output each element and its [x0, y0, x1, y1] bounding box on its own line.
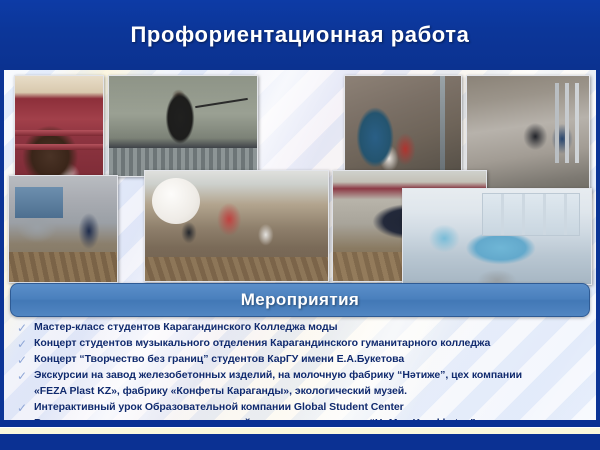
- list-item-label: Мастер-класс студентов Карагандинского К…: [34, 320, 596, 334]
- photo-image: [15, 76, 103, 179]
- slide-root: Профориентационная работа: [0, 0, 600, 450]
- photo-children-stage: [144, 170, 329, 282]
- photo-dombra-performer: [108, 75, 258, 177]
- list-item-label: Интерактивный урок Образовательной компа…: [34, 400, 596, 414]
- photo-students-classroom: [8, 175, 118, 283]
- left-border: [0, 70, 4, 420]
- photo-detail: [9, 252, 117, 282]
- photo-auditorium-girl-braid: [14, 75, 104, 180]
- photo-detail: [152, 178, 200, 224]
- right-border: [596, 70, 600, 420]
- photo-detail: [145, 257, 328, 281]
- list-item: ✓ Экскурсии на завод железобетонных изде…: [10, 368, 596, 384]
- checkmark-icon: ✓: [10, 336, 34, 351]
- list-item: ✓ Интерактивный урок Образовательной ком…: [10, 400, 596, 416]
- events-panel-header: Мероприятия: [10, 283, 590, 317]
- checkmark-icon: ✓: [10, 352, 34, 367]
- slide-title-band: Профориентационная работа: [0, 0, 600, 70]
- photo-detail: [482, 193, 580, 237]
- photo-detail: [15, 130, 103, 136]
- photo-dairy-plant-visit: [402, 188, 592, 285]
- events-bullet-list: ✓ Мастер-класс студентов Карагандинского…: [10, 320, 596, 420]
- page-title: Профориентационная работа: [131, 22, 470, 48]
- photo-image: [403, 189, 591, 284]
- list-item-label-line2: «FEZA Plast KZ», фабрику «Конфеты Карага…: [34, 384, 596, 398]
- list-item-label: Концерт “Творчество без границ” студенто…: [34, 352, 596, 366]
- photo-detail: [15, 187, 63, 219]
- list-item: ✓ Концерт “Творчество без границ” студен…: [10, 352, 596, 368]
- photo-detail: [195, 98, 248, 108]
- slide-body: Мероприятия ✓ Мастер-класс студентов Кар…: [4, 70, 596, 420]
- events-panel-title: Мероприятия: [241, 290, 360, 310]
- photo-image: [145, 171, 328, 281]
- list-item-continuation: ✓ «FEZA Plast KZ», фабрику «Конфеты Кара…: [10, 384, 596, 400]
- spacer: ✓: [10, 384, 34, 399]
- photo-image: [109, 76, 257, 176]
- list-item: ✓ Мастер-класс студентов Карагандинского…: [10, 320, 596, 336]
- footer-bar-bottom: [0, 434, 600, 450]
- checkmark-icon: ✓: [10, 320, 34, 335]
- list-item-label: Концерт студентов музыкального отделения…: [34, 336, 596, 350]
- footer-bar-top: [0, 420, 600, 427]
- photo-image: [9, 176, 117, 282]
- photo-detail: [15, 144, 103, 150]
- list-item: ✓ Концерт студентов музыкального отделен…: [10, 336, 596, 352]
- photo-detail: [575, 83, 579, 163]
- checkmark-icon: ✓: [10, 400, 34, 415]
- checkmark-icon: ✓: [10, 368, 34, 383]
- list-item-label: Экскурсии на завод железобетонных издели…: [34, 368, 596, 382]
- photo-collage: [4, 70, 596, 285]
